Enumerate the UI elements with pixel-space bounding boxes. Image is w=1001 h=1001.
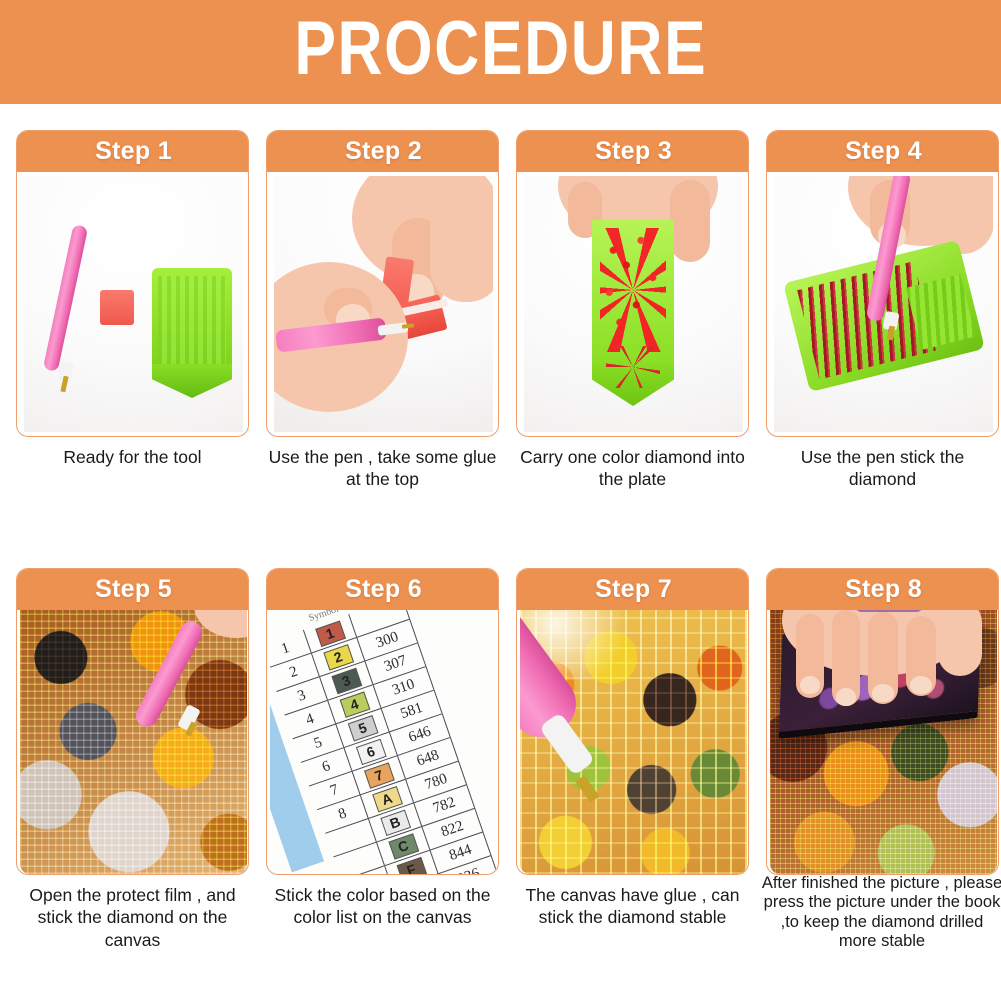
step-card-frame: Step 7 [516, 568, 749, 875]
step-card-5: Step 5 Open the protect film , and [16, 568, 249, 875]
step-header-band: Step 5 [16, 568, 249, 610]
step-caption: Use the pen stick the diamond [766, 446, 999, 491]
step-header-band: Step 1 [16, 130, 249, 172]
step-card-2: Step 2 [266, 130, 499, 437]
press-book-photo [767, 610, 999, 875]
step-label: Step 8 [845, 575, 922, 604]
step-header-band: Step 8 [766, 568, 999, 610]
step-header-band: Step 3 [516, 130, 749, 172]
step-label: Step 4 [845, 137, 922, 166]
step-card-1: Step 1 [16, 130, 249, 437]
page-header: PROCEDURE [0, 0, 1001, 104]
step-card-frame: Step 5 [16, 568, 249, 875]
step-label: Step 6 [345, 575, 422, 604]
step-caption: Open the protect film , and stick the di… [16, 884, 249, 951]
step-header-band: Step 4 [766, 130, 999, 172]
step-label: Step 3 [595, 137, 672, 166]
step-card-6: Step 6 [266, 568, 499, 875]
step-header-band: Step 6 [266, 568, 499, 610]
step-caption: Ready for the tool [16, 446, 249, 468]
step-card-frame: Step 3 [516, 130, 749, 437]
step-label: Step 5 [95, 575, 172, 604]
page-title: PROCEDURE [294, 11, 707, 93]
glue-pickup-photo [267, 172, 499, 437]
pick-diamond-photo [767, 172, 999, 437]
step-card-frame: Step 4 [766, 130, 999, 437]
canvas-placing-photo [17, 610, 249, 875]
step-label: Step 7 [595, 575, 672, 604]
step-caption: After finished the picture , please pres… [760, 874, 1001, 951]
procedure-infographic: PROCEDURE Step 1 [0, 0, 1001, 1001]
step-card-8: Step 8 [766, 568, 999, 875]
step-label: Step 2 [345, 137, 422, 166]
step-header-band: Step 2 [266, 130, 499, 172]
steps-grid: Step 1 [0, 104, 1001, 1001]
color-chart-photo: Symbol DMC 11223003330744310555816664677… [267, 610, 499, 875]
step-card-3: Step 3 [516, 130, 749, 437]
step-caption: Carry one color diamond into the plate [516, 446, 749, 491]
step-label: Step 1 [95, 137, 172, 166]
step-caption: Use the pen , take some glue at the top [266, 446, 499, 491]
step-card-frame: Step 1 [16, 130, 249, 437]
closeup-diamonds-photo [517, 610, 749, 875]
step-card-4: Step 4 [766, 130, 999, 437]
step-card-frame: Step 8 [766, 568, 999, 875]
step-caption: Stick the color based on the color list … [266, 884, 499, 929]
step-card-7: Step 7 The canvas h [516, 568, 749, 875]
step-caption: The canvas have glue , can stick the dia… [516, 884, 749, 929]
tools-photo [17, 172, 249, 437]
pour-diamonds-photo [517, 172, 749, 437]
step-card-frame: Step 2 [266, 130, 499, 437]
step-header-band: Step 7 [516, 568, 749, 610]
step-card-frame: Step 6 [266, 568, 499, 875]
